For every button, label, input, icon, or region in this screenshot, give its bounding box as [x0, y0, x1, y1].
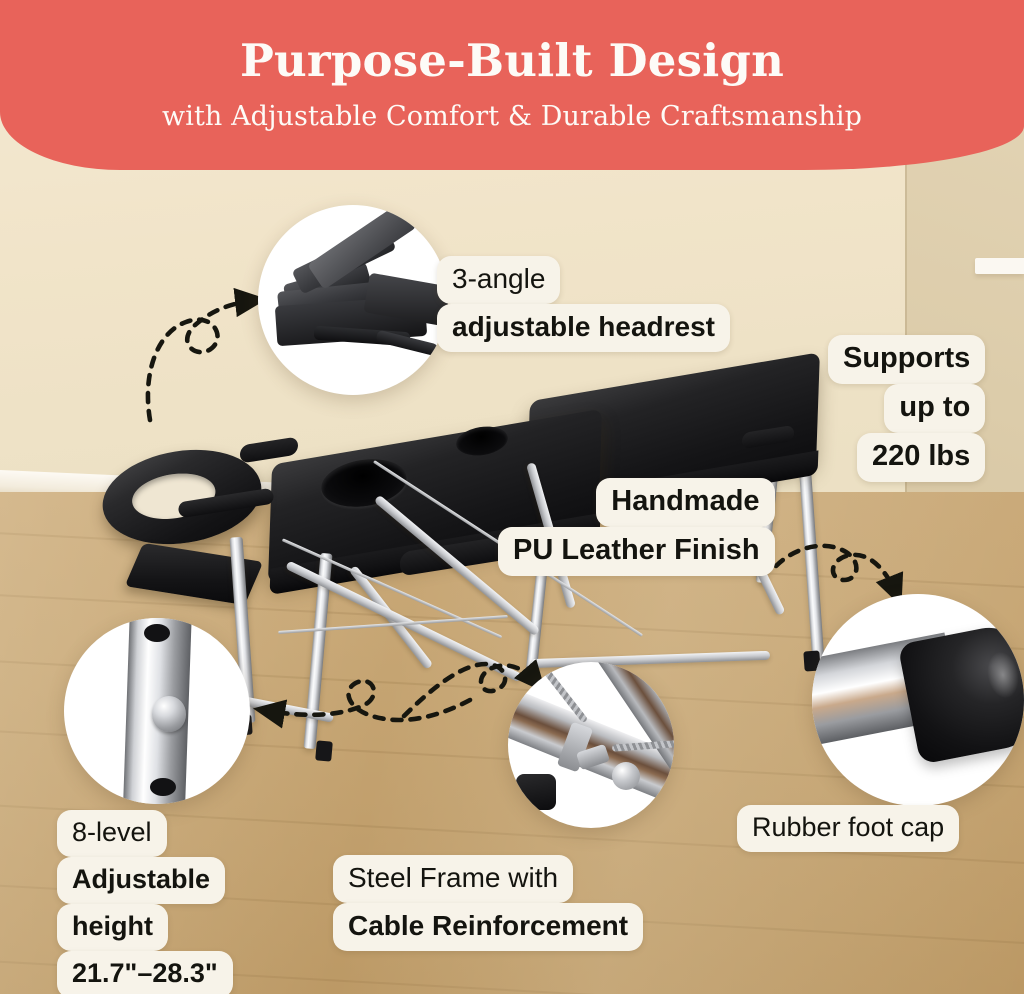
callout-rubber-foot-cap: Rubber foot cap: [737, 805, 959, 852]
infographic-canvas: Purpose-Built Design with Adjustable Com…: [0, 0, 1024, 994]
callout-pu-leather-finish: Handmade PU Leather Finish: [498, 478, 775, 576]
callout-line: Rubber foot cap: [737, 805, 959, 852]
adjustment-pin: [152, 696, 186, 732]
callout-line: 8-level: [57, 810, 167, 857]
callout-weight-capacity: Supports up to 220 lbs: [828, 335, 985, 482]
callout-line: Steel Frame with: [333, 855, 573, 903]
callout-line: height: [57, 904, 168, 951]
callout-line: 220 lbs: [857, 433, 985, 482]
callout-line: 3-angle: [437, 256, 560, 304]
pin-hole-lower: [150, 778, 176, 796]
callout-steel-frame: Steel Frame with Cable Reinforcement: [333, 855, 643, 951]
callout-line: adjustable headrest: [437, 304, 730, 352]
header-banner: Purpose-Built Design with Adjustable Com…: [0, 0, 1024, 170]
side-rail-upper: [240, 436, 298, 463]
footcap-detail-inset: [812, 594, 1024, 806]
callout-line: PU Leather Finish: [498, 527, 775, 576]
headrest-detail-inset: [258, 205, 448, 395]
callout-line: Adjustable: [57, 857, 225, 904]
callout-adjustable-headrest: 3-angle adjustable headrest: [437, 256, 730, 352]
callout-line: 21.7"–28.3": [57, 951, 233, 994]
callout-adjustable-height: 8-level Adjustable height 21.7"–28.3": [57, 810, 233, 994]
cable-detail-inset: [508, 662, 674, 828]
callout-line: up to: [884, 384, 985, 433]
pin-hole-upper: [144, 624, 170, 642]
foot-cap-mid-left: [315, 740, 333, 761]
page-subtitle: with Adjustable Comfort & Durable Crafts…: [0, 102, 1024, 132]
callout-line: Supports: [828, 335, 985, 384]
callout-line: Handmade: [596, 478, 774, 527]
callout-line: Cable Reinforcement: [333, 903, 643, 951]
page-title: Purpose-Built Design: [0, 38, 1024, 83]
height-pin-detail-inset: [64, 618, 250, 804]
ceiling-trim: [975, 258, 1024, 274]
